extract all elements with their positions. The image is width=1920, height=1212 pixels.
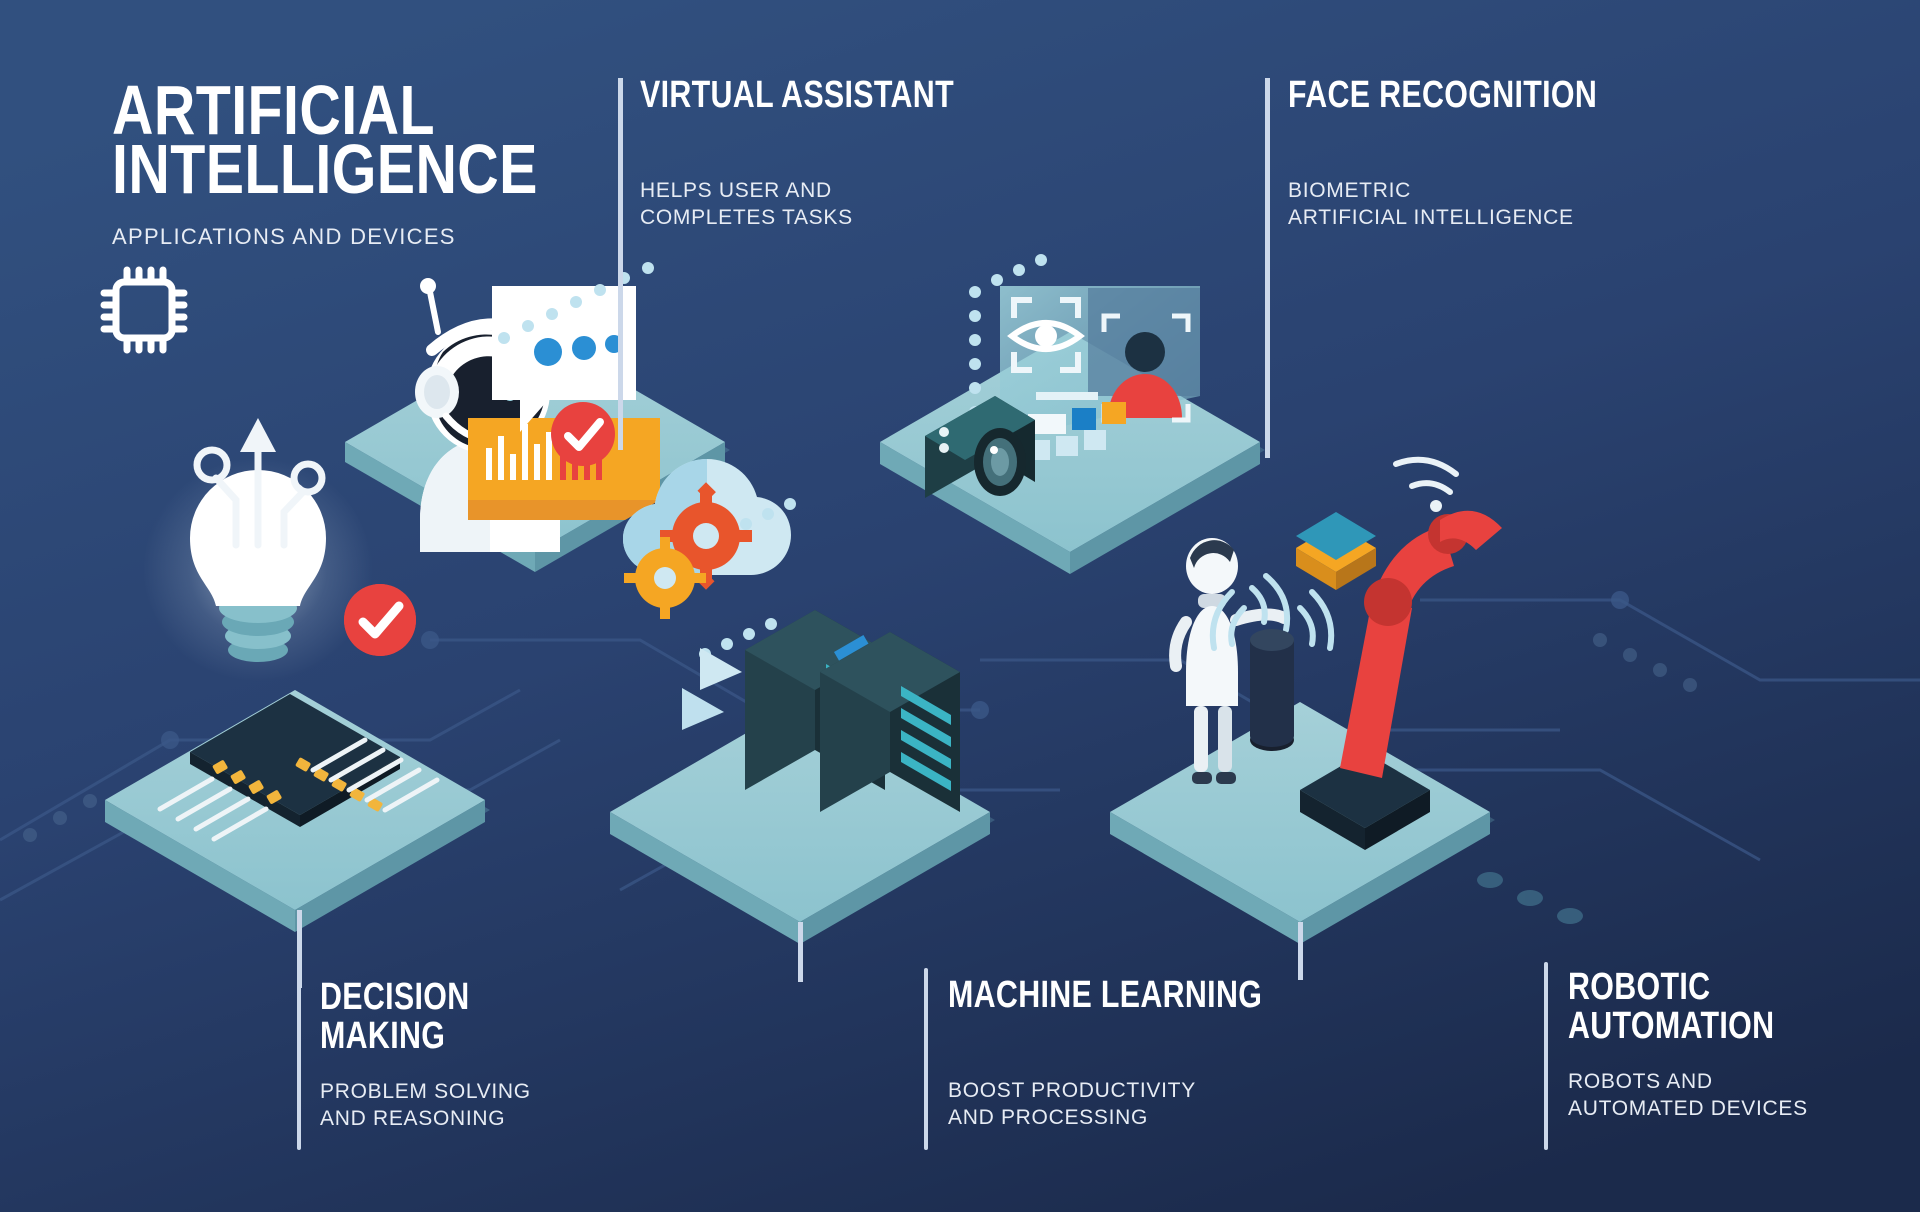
infographic-canvas: ARTIFICIAL INTELLIGENCE APPLICATIONS AND… bbox=[0, 0, 1920, 1212]
section-face-recognition: FACE RECOGNITION BIOMETRIC ARTIFICIAL IN… bbox=[1288, 76, 1674, 232]
section-title-line2: MAKING bbox=[320, 1017, 489, 1056]
microchip-icon bbox=[96, 262, 192, 358]
section-sub-line2: AND PROCESSING bbox=[948, 1104, 1341, 1132]
section-title-line1: ROBOTIC bbox=[1568, 968, 1774, 1007]
section-title-line1: DECISION bbox=[320, 978, 489, 1017]
section-title: MACHINE LEARNING bbox=[948, 976, 1262, 1015]
section-decision-making: DECISION MAKING PROBLEM SOLVING AND REAS… bbox=[320, 978, 531, 1133]
hero-subtitle: APPLICATIONS AND DEVICES bbox=[112, 224, 631, 250]
section-title-line2: AUTOMATION bbox=[1568, 1007, 1774, 1046]
connector-robotic-automation bbox=[1544, 962, 1548, 1150]
section-sub-line1: PROBLEM SOLVING bbox=[320, 1078, 531, 1106]
hero-title-line2: INTELLIGENCE bbox=[112, 137, 538, 202]
section-sub-line1: HELPS USER AND bbox=[640, 177, 1032, 205]
connector-machine-learning bbox=[924, 968, 928, 1150]
section-sub-line2: COMPLETES TASKS bbox=[640, 204, 1032, 232]
section-robotic-automation: ROBOTIC AUTOMATION ROBOTS AND AUTOMATED … bbox=[1568, 968, 1826, 1123]
connector-face-recognition bbox=[1265, 78, 1270, 458]
section-sub-line2: AND REASONING bbox=[320, 1105, 531, 1133]
hero-block: ARTIFICIAL INTELLIGENCE APPLICATIONS AND… bbox=[112, 78, 631, 250]
section-machine-learning: MACHINE LEARNING BOOST PRODUCTIVITY AND … bbox=[948, 976, 1341, 1132]
section-title: FACE RECOGNITION bbox=[1288, 76, 1597, 115]
section-sub-line1: BOOST PRODUCTIVITY bbox=[948, 1077, 1341, 1105]
section-sub-line1: BIOMETRIC bbox=[1288, 177, 1674, 205]
section-title: VIRTUAL ASSISTANT bbox=[640, 76, 954, 115]
section-virtual-assistant: VIRTUAL ASSISTANT HELPS USER AND COMPLET… bbox=[640, 76, 1032, 232]
section-sub-line2: AUTOMATED DEVICES bbox=[1568, 1095, 1826, 1123]
section-sub-line2: ARTIFICIAL INTELLIGENCE bbox=[1288, 204, 1674, 232]
section-sub-line1: ROBOTS AND bbox=[1568, 1068, 1826, 1096]
connector-decision-making bbox=[297, 972, 301, 1150]
